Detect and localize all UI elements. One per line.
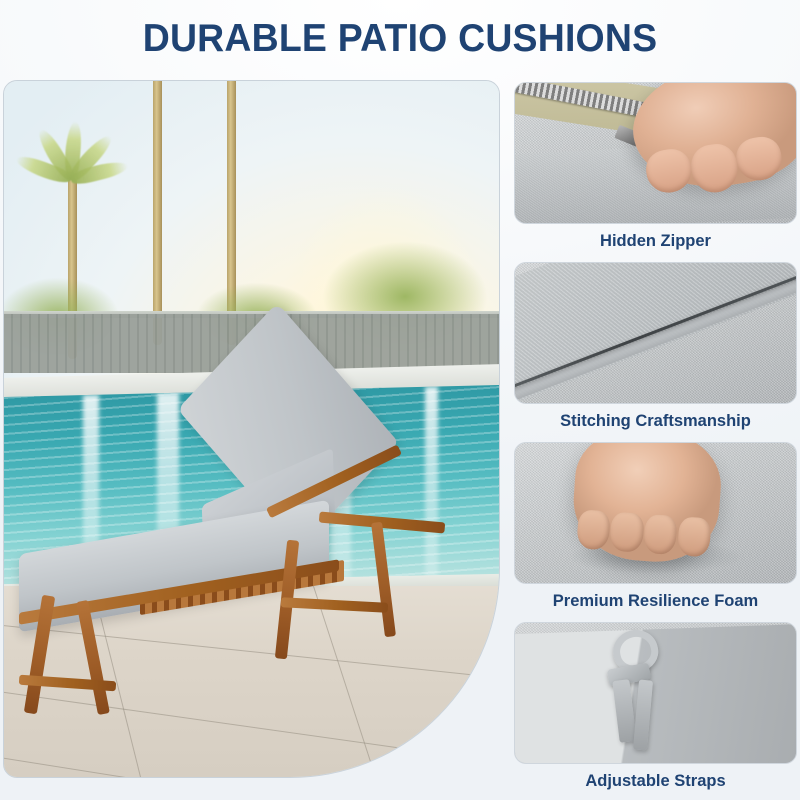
feature-item-hidden-zipper[interactable]: Hidden Zipper — [514, 82, 797, 251]
page-title-bar: DURABLE PATIO CUSHIONS — [0, 0, 800, 78]
feature-list: Hidden Zipper Stitching Craftsmanship — [514, 82, 797, 782]
feature-label-hidden-zipper: Hidden Zipper — [514, 232, 797, 251]
feature-label-premium-resilience-foam: Premium Resilience Foam — [514, 592, 797, 611]
wood-stretcher-rear — [280, 597, 387, 612]
page-title: DURABLE PATIO CUSHIONS — [143, 17, 658, 61]
chaise-lounger — [9, 311, 494, 770]
feature-item-stitching-craftsmanship[interactable]: Stitching Craftsmanship — [514, 262, 797, 431]
product-feature-infographic: DURABLE PATIO CUSHIONS — [0, 0, 800, 800]
hero-scene — [4, 81, 499, 777]
feature-item-adjustable-straps[interactable]: Adjustable Straps — [514, 622, 797, 791]
wood-leg-rear-right — [371, 522, 396, 637]
feature-item-premium-resilience-foam[interactable]: Premium Resilience Foam — [514, 442, 797, 611]
hero-lifestyle-image — [3, 80, 500, 778]
adjustable-straps-thumbnail — [514, 622, 797, 764]
feature-label-adjustable-straps: Adjustable Straps — [514, 772, 797, 791]
palm-trunk — [153, 81, 162, 345]
premium-resilience-foam-thumbnail — [514, 442, 797, 584]
hidden-zipper-thumbnail — [514, 82, 797, 224]
fist-icon — [570, 442, 725, 566]
stitching-craftsmanship-thumbnail — [514, 262, 797, 404]
palm-tree-tall-left — [153, 81, 162, 345]
feature-label-stitching-craftsmanship: Stitching Craftsmanship — [514, 412, 797, 431]
